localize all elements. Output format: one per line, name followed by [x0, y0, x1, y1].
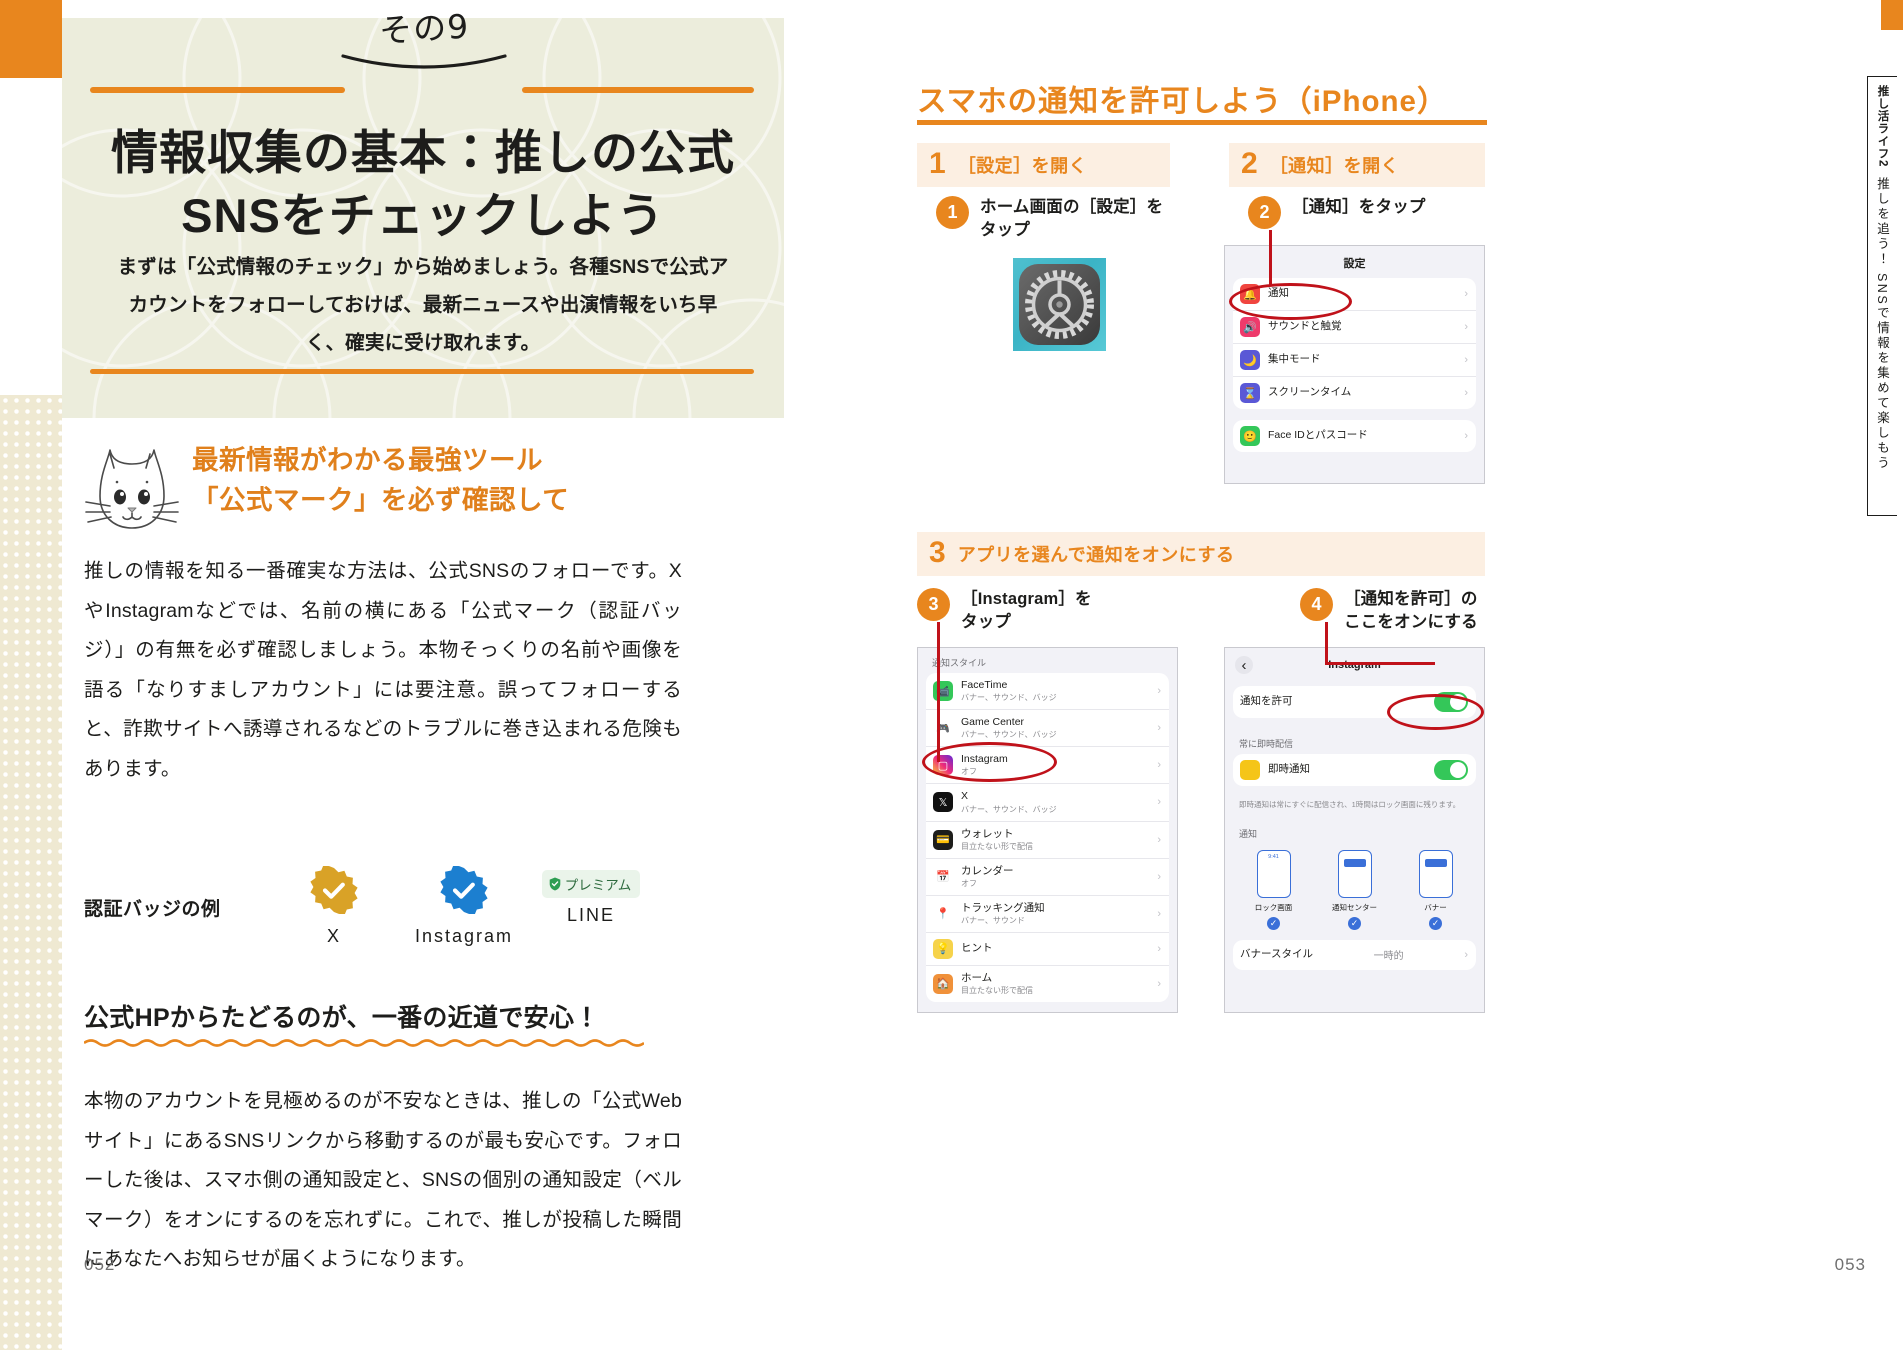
badge-examples-row: 認証バッジの例 X Instagram	[84, 868, 704, 978]
instagram-nav-title: Instagram	[1253, 659, 1456, 671]
cat-heading-text: 最新情報がわかる最強ツール「公式マーク」を必ず確認して	[192, 440, 832, 521]
step-number: 2	[1241, 149, 1258, 179]
settings-app-icon	[1013, 258, 1106, 351]
list-item[interactable]: 🏠ホーム目立たない形で配信›	[926, 966, 1169, 1002]
chevron-right-icon: ›	[1157, 908, 1161, 920]
list-item-label: Face IDとパスコード	[1268, 429, 1368, 442]
list-item-label: Instagram	[961, 753, 1008, 766]
callout-number: 4	[1300, 588, 1333, 621]
list-item-label: X	[961, 790, 1057, 803]
list-item[interactable]: 💳ウォレット目立たない形で配信›	[926, 822, 1169, 859]
faceid-icon: 🙂	[1240, 426, 1260, 446]
list-item[interactable]: 𝕏Xバナー、サウンド、バッジ›	[926, 784, 1169, 821]
left-page: その9 情報収集の基本：推しの公式SNSをチェックしよう まずは「公式情報のチェ…	[62, 0, 852, 1350]
badge-examples-label: 認証バッジの例	[84, 894, 221, 921]
callout-text: ［Instagram］をタップ	[961, 588, 1092, 635]
calendar-icon: 📅	[933, 867, 953, 887]
badge-caption: LINE	[516, 905, 666, 926]
body-paragraph-1: 推しの情報を知る一番確実な方法は、公式SNSのフォローです。XやInstagra…	[84, 552, 682, 789]
page-title: 情報収集の基本：推しの公式SNSをチェックしよう	[62, 122, 784, 248]
alert-style-caption: バナー	[1407, 902, 1465, 913]
callout-number: 3	[917, 588, 950, 621]
settings-group-1: 🔔通知›🔊サウンドと触覚›🌙集中モード›⌛スクリーンタイム›	[1233, 278, 1476, 409]
section-marker: その9	[324, 2, 524, 77]
banner-style-label: バナースタイル	[1240, 948, 1313, 961]
list-item[interactable]: ▢Instagramオフ›	[926, 747, 1169, 784]
chevron-right-icon: ›	[1157, 796, 1161, 808]
cat-icon	[84, 444, 180, 536]
x-icon: 𝕏	[933, 792, 953, 812]
step-number: 3	[929, 538, 946, 568]
annotation-line-2	[1269, 230, 1272, 285]
callout-number: 2	[1248, 196, 1281, 229]
list-item[interactable]: 📹FaceTimeバナー、サウンド、バッジ›	[926, 673, 1169, 710]
chevron-right-icon: ›	[1157, 834, 1161, 846]
settings-screenshot: 設定 🔔通知›🔊サウンドと触覚›🌙集中モード›⌛スクリーンタイム› 🙂Face …	[1224, 245, 1485, 484]
list-item-label: FaceTime	[961, 679, 1057, 692]
badge-caption: Instagram	[389, 926, 539, 947]
immediate-notification-toggle[interactable]	[1434, 760, 1468, 780]
callout-3: 3 ［Instagram］をタップ	[917, 588, 1157, 635]
side-tab-line1: 推し活ライフ2	[1875, 85, 1891, 167]
gold-check-badge-icon	[310, 866, 358, 914]
banner-style-row[interactable]: バナースタイル 一時的 ›	[1233, 940, 1476, 970]
right-page-title-rule	[917, 120, 1487, 125]
chevron-right-icon: ›	[1157, 685, 1161, 697]
list-item-subtitle: 目立たない形で配信	[961, 986, 1033, 996]
badge-example-x: X	[259, 866, 409, 947]
list-item-subtitle: オフ	[961, 879, 1014, 889]
page-number-right: 053	[1835, 1255, 1866, 1275]
corner-block-top-left	[0, 0, 62, 78]
list-item-label: ヒント	[961, 942, 993, 955]
annotation-line-4-v	[1325, 622, 1328, 664]
step-label: ［設定］を開く	[958, 152, 1088, 178]
chevron-right-icon: ›	[1157, 759, 1161, 771]
check-icon[interactable]: ✓	[1267, 917, 1280, 930]
list-item[interactable]: 📅カレンダーオフ›	[926, 859, 1169, 896]
gear-icon	[1013, 258, 1106, 351]
banner-style-value: 一時的	[1374, 947, 1404, 962]
callout-4: 4 ［通知を許可］のここをオンにする	[1300, 588, 1500, 635]
immediate-section-label: 常に即時配信	[1225, 729, 1484, 754]
annotation-line-4-h	[1325, 662, 1435, 665]
list-item-subtitle: バナー、サウンド	[961, 916, 1045, 926]
callout-text: ［通知］をタップ	[1292, 196, 1426, 219]
list-item[interactable]: 💡ヒント›	[926, 933, 1169, 966]
badge-caption: X	[259, 926, 409, 947]
tips-icon: 💡	[933, 939, 953, 959]
alert-style-thumb[interactable]: バナー✓	[1407, 850, 1465, 930]
chevron-right-icon: ›	[1464, 430, 1468, 442]
list-item-label: 集中モード	[1268, 353, 1321, 366]
speaker-icon: 🔊	[1240, 317, 1260, 337]
section-marker-arc	[339, 52, 509, 72]
phone-preview-icon	[1338, 850, 1372, 898]
callout-number: 1	[936, 196, 969, 229]
clock-icon	[1240, 760, 1260, 780]
chevron-right-icon: ›	[1464, 387, 1468, 399]
alert-style-thumb[interactable]: 通知センター✓	[1326, 850, 1384, 930]
hero-lead-text: まずは「公式情報のチェック」から始めましょう。各種SNSで公式アカウントをフォロ…	[110, 248, 736, 362]
callout-2: 2 ［通知］をタップ	[1248, 196, 1488, 229]
step-label: アプリを選んで通知をオンにする	[958, 541, 1235, 567]
tracking-icon: 📍	[933, 904, 953, 924]
premium-pill: プレミアム	[542, 870, 641, 898]
list-item-label: カレンダー	[961, 865, 1014, 878]
alerts-section-label: 通知	[1225, 819, 1484, 844]
title-rule-right	[522, 87, 754, 93]
back-button[interactable]: ‹	[1235, 656, 1253, 674]
list-item-subtitle: バナー、サウンド、バッジ	[961, 805, 1057, 815]
alert-style-caption: ロック画面	[1245, 902, 1303, 913]
chevron-right-icon: ›	[1157, 871, 1161, 883]
home-icon: 🏠	[933, 974, 953, 994]
list-item-label: トラッキング通知	[961, 902, 1045, 915]
bell-icon: 🔔	[1240, 284, 1260, 304]
chevron-right-icon: ›	[1464, 949, 1468, 961]
list-item-label: サウンドと触覚	[1268, 320, 1342, 333]
book-spread: その9 情報収集の基本：推しの公式SNSをチェックしよう まずは「公式情報のチェ…	[0, 0, 1903, 1350]
section-marker-label: その9	[378, 0, 470, 52]
chevron-right-icon: ›	[1464, 354, 1468, 366]
callout-text: ［通知を許可］のここをオンにする	[1344, 588, 1478, 635]
list-item[interactable]: 🙂Face IDとパスコード›	[1233, 420, 1476, 452]
page-number-left: 052	[84, 1255, 115, 1275]
gamecenter-icon: 🎮	[933, 718, 953, 738]
chevron-right-icon: ›	[1157, 722, 1161, 734]
dotted-edge-strip	[0, 395, 62, 1350]
phone-preview-icon: 9:41	[1257, 850, 1291, 898]
settings-nav-title: 設定	[1225, 246, 1484, 278]
body-paragraph-2: 本物のアカウントを見極めるのが不安なときは、推しの「公式Webサイト」にあるSN…	[84, 1082, 682, 1280]
allow-notifications-row[interactable]: 通知を許可	[1233, 686, 1476, 718]
list-item-label: 通知	[1268, 287, 1289, 300]
sub-heading: 公式HPからたどるのが、一番の近道で安心！	[84, 998, 704, 1034]
check-icon[interactable]: ✓	[1429, 917, 1442, 930]
alert-style-thumbs: 9:41ロック画面✓通知センター✓バナー✓	[1225, 844, 1484, 932]
hero-bottom-rule	[90, 369, 754, 374]
immediate-notification-row[interactable]: 即時通知	[1233, 754, 1476, 786]
immediate-notification-label: 即時通知	[1268, 763, 1310, 776]
step-label: ［通知］を開く	[1270, 152, 1400, 178]
annotation-line-3	[937, 622, 940, 762]
alert-style-caption: 通知センター	[1326, 902, 1384, 913]
chevron-right-icon: ›	[1464, 321, 1468, 333]
allow-notifications-label: 通知を許可	[1240, 695, 1293, 708]
blue-check-badge-icon	[440, 866, 488, 914]
callout-1: 1 ホーム画面の［設定］をタップ	[936, 196, 1166, 243]
callout-text: ホーム画面の［設定］をタップ	[980, 196, 1163, 243]
app-list-section-label: 通知スタイル	[918, 648, 1177, 673]
list-item[interactable]: 📍トラッキング通知バナー、サウンド›	[926, 896, 1169, 933]
list-item-subtitle: バナー、サウンド、バッジ	[961, 730, 1057, 740]
list-item-subtitle: 目立たない形で配信	[961, 842, 1033, 852]
wavy-underline	[84, 1037, 644, 1048]
list-item[interactable]: ⌛スクリーンタイム›	[1233, 377, 1476, 409]
hourglass-icon: ⌛	[1240, 383, 1260, 403]
list-item[interactable]: 🌙集中モード›	[1233, 344, 1476, 377]
right-page: スマホの通知を許可しよう（iPhone） 1 ［設定］を開く 2 ［通知］を開く…	[900, 0, 1903, 1350]
settings-group-2: 🙂Face IDとパスコード›	[1233, 420, 1476, 452]
phone-preview-icon	[1419, 850, 1453, 898]
premium-pill-label: プレミアム	[565, 874, 632, 894]
instagram-icon: ▢	[933, 755, 953, 775]
title-rule-left	[90, 87, 345, 93]
step-bar-3: 3 アプリを選んで通知をオンにする	[917, 532, 1485, 576]
list-item-label: ウォレット	[961, 828, 1033, 841]
list-item[interactable]: 🔊サウンドと触覚›	[1233, 311, 1476, 344]
instagram-detail-screenshot: ‹ Instagram 通知を許可 常に即時配信 即時通知 即時通知は常にすぐに…	[1224, 647, 1485, 1013]
list-item-label: Game Center	[961, 716, 1057, 729]
shield-icon	[549, 877, 561, 891]
badge-example-line: プレミアム LINE	[516, 870, 666, 926]
step-bar-1: 1 ［設定］を開く	[917, 143, 1170, 187]
wallet-icon: 💳	[933, 830, 953, 850]
list-item-label: スクリーンタイム	[1268, 386, 1351, 399]
step-number: 1	[929, 149, 946, 179]
step-bar-2: 2 ［通知］を開く	[1229, 143, 1485, 187]
alert-style-thumb[interactable]: 9:41ロック画面✓	[1245, 850, 1303, 930]
immediate-note: 即時通知は常にすぐに配信され、1時間はロック画面に残ります。	[1225, 797, 1484, 819]
side-tab: 推し活ライフ2 推しを追う！ SNSで情報を集めて楽しもう	[1867, 76, 1897, 516]
list-item[interactable]: 🎮Game Centerバナー、サウンド、バッジ›	[926, 710, 1169, 747]
check-icon[interactable]: ✓	[1348, 917, 1361, 930]
side-tab-line2: 推しを追う！ SNSで情報を集めて楽しもう	[1873, 177, 1892, 471]
facetime-icon: 📹	[933, 681, 953, 701]
app-list-screenshot: 通知スタイル 📹FaceTimeバナー、サウンド、バッジ›🎮Game Cente…	[917, 647, 1178, 1013]
cat-heading-block: 最新情報がわかる最強ツール「公式マーク」を必ず確認して	[84, 440, 824, 540]
chevron-right-icon: ›	[1157, 978, 1161, 990]
list-item-subtitle: バナー、サウンド、バッジ	[961, 693, 1057, 703]
app-list-group: 📹FaceTimeバナー、サウンド、バッジ›🎮Game Centerバナー、サウ…	[926, 673, 1169, 1002]
chevron-right-icon: ›	[1464, 288, 1468, 300]
moon-icon: 🌙	[1240, 350, 1260, 370]
allow-notifications-toggle[interactable]	[1434, 692, 1468, 712]
list-item-label: ホーム	[961, 972, 1033, 985]
list-item-subtitle: オフ	[961, 767, 1008, 777]
chevron-right-icon: ›	[1157, 943, 1161, 955]
right-page-title: スマホの通知を許可しよう（iPhone）	[917, 78, 1447, 120]
